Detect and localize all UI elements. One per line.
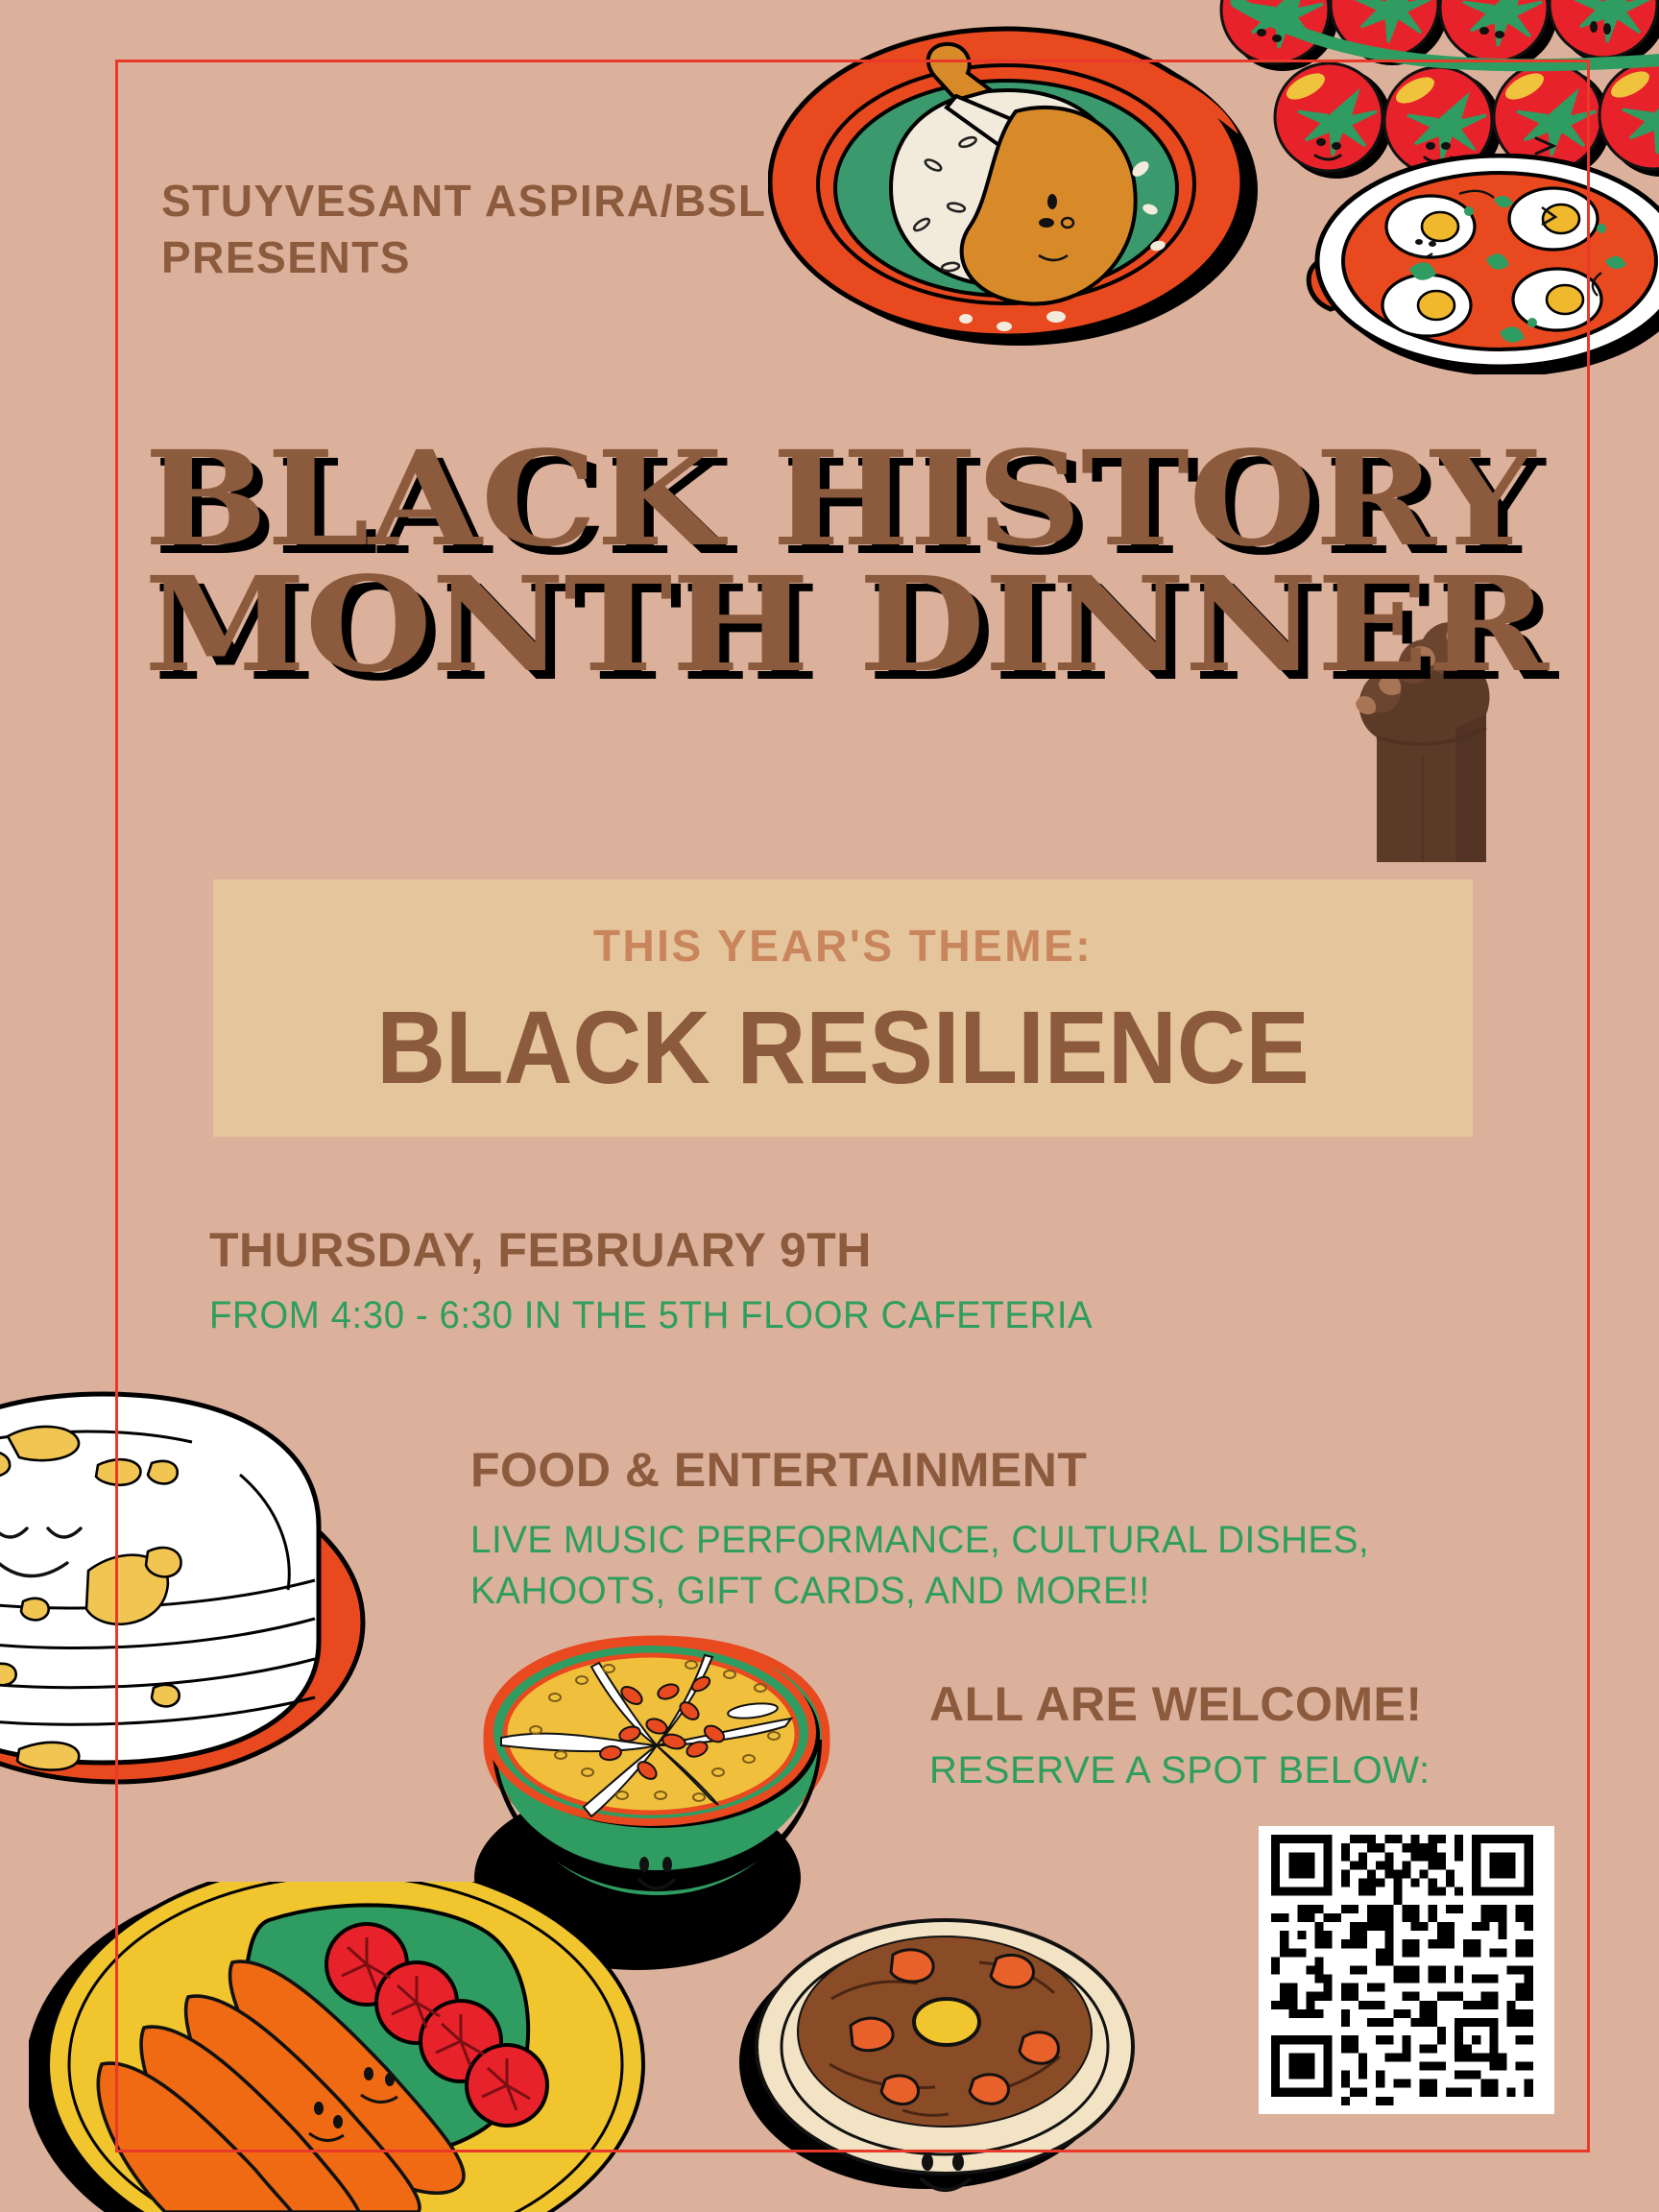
- stew-bowl-illustration: [739, 1824, 1152, 2212]
- border-rule-left: [115, 60, 118, 2152]
- theme-kicker: THIS YEAR'S THEME:: [213, 920, 1473, 972]
- presenter-line: STUYVESANT ASPIRA/BSL PRESENTS: [161, 173, 891, 286]
- program-heading: FOOD & ENTERTAINMENT: [470, 1442, 1334, 1498]
- event-date: THURSDAY, FEBRUARY 9TH: [209, 1222, 1073, 1278]
- border-rule-bottom: [115, 2150, 1590, 2152]
- injera-stack-illustration: [0, 1382, 374, 1786]
- poster-canvas: STUYVESANT ASPIRA/BSL PRESENTS BLACK HIS…: [0, 0, 1659, 2212]
- qr-code[interactable]: [1259, 1826, 1554, 2114]
- yellow-soup-bowl-illustration: [469, 1619, 853, 2003]
- border-rule-top: [115, 60, 1590, 62]
- rsvp-subheading: RESERVE A SPOT BELOW:: [929, 1749, 1601, 1792]
- vine-tomatoes-illustration: [1217, 0, 1659, 207]
- border-rule-right: [1587, 60, 1590, 2152]
- theme-headline: BLACK RESILIENCE: [263, 987, 1422, 1107]
- event-time-location: FROM 4:30 - 6:30 IN THE 5TH FLOOR CAFETE…: [209, 1294, 1131, 1337]
- rsvp-heading: ALL ARE WELCOME!: [929, 1676, 1601, 1732]
- program-details: LIVE MUSIC PERFORMANCE, CULTURAL DISHES,…: [470, 1515, 1411, 1617]
- shakshuka-pan-illustration: [1296, 154, 1659, 374]
- fried-rolls-plate-illustration: [29, 1882, 662, 2212]
- page-title: BLACK HISTORY MONTH DINNER: [144, 437, 1563, 687]
- theme-banner: THIS YEAR'S THEME: BLACK RESILIENCE: [213, 879, 1473, 1137]
